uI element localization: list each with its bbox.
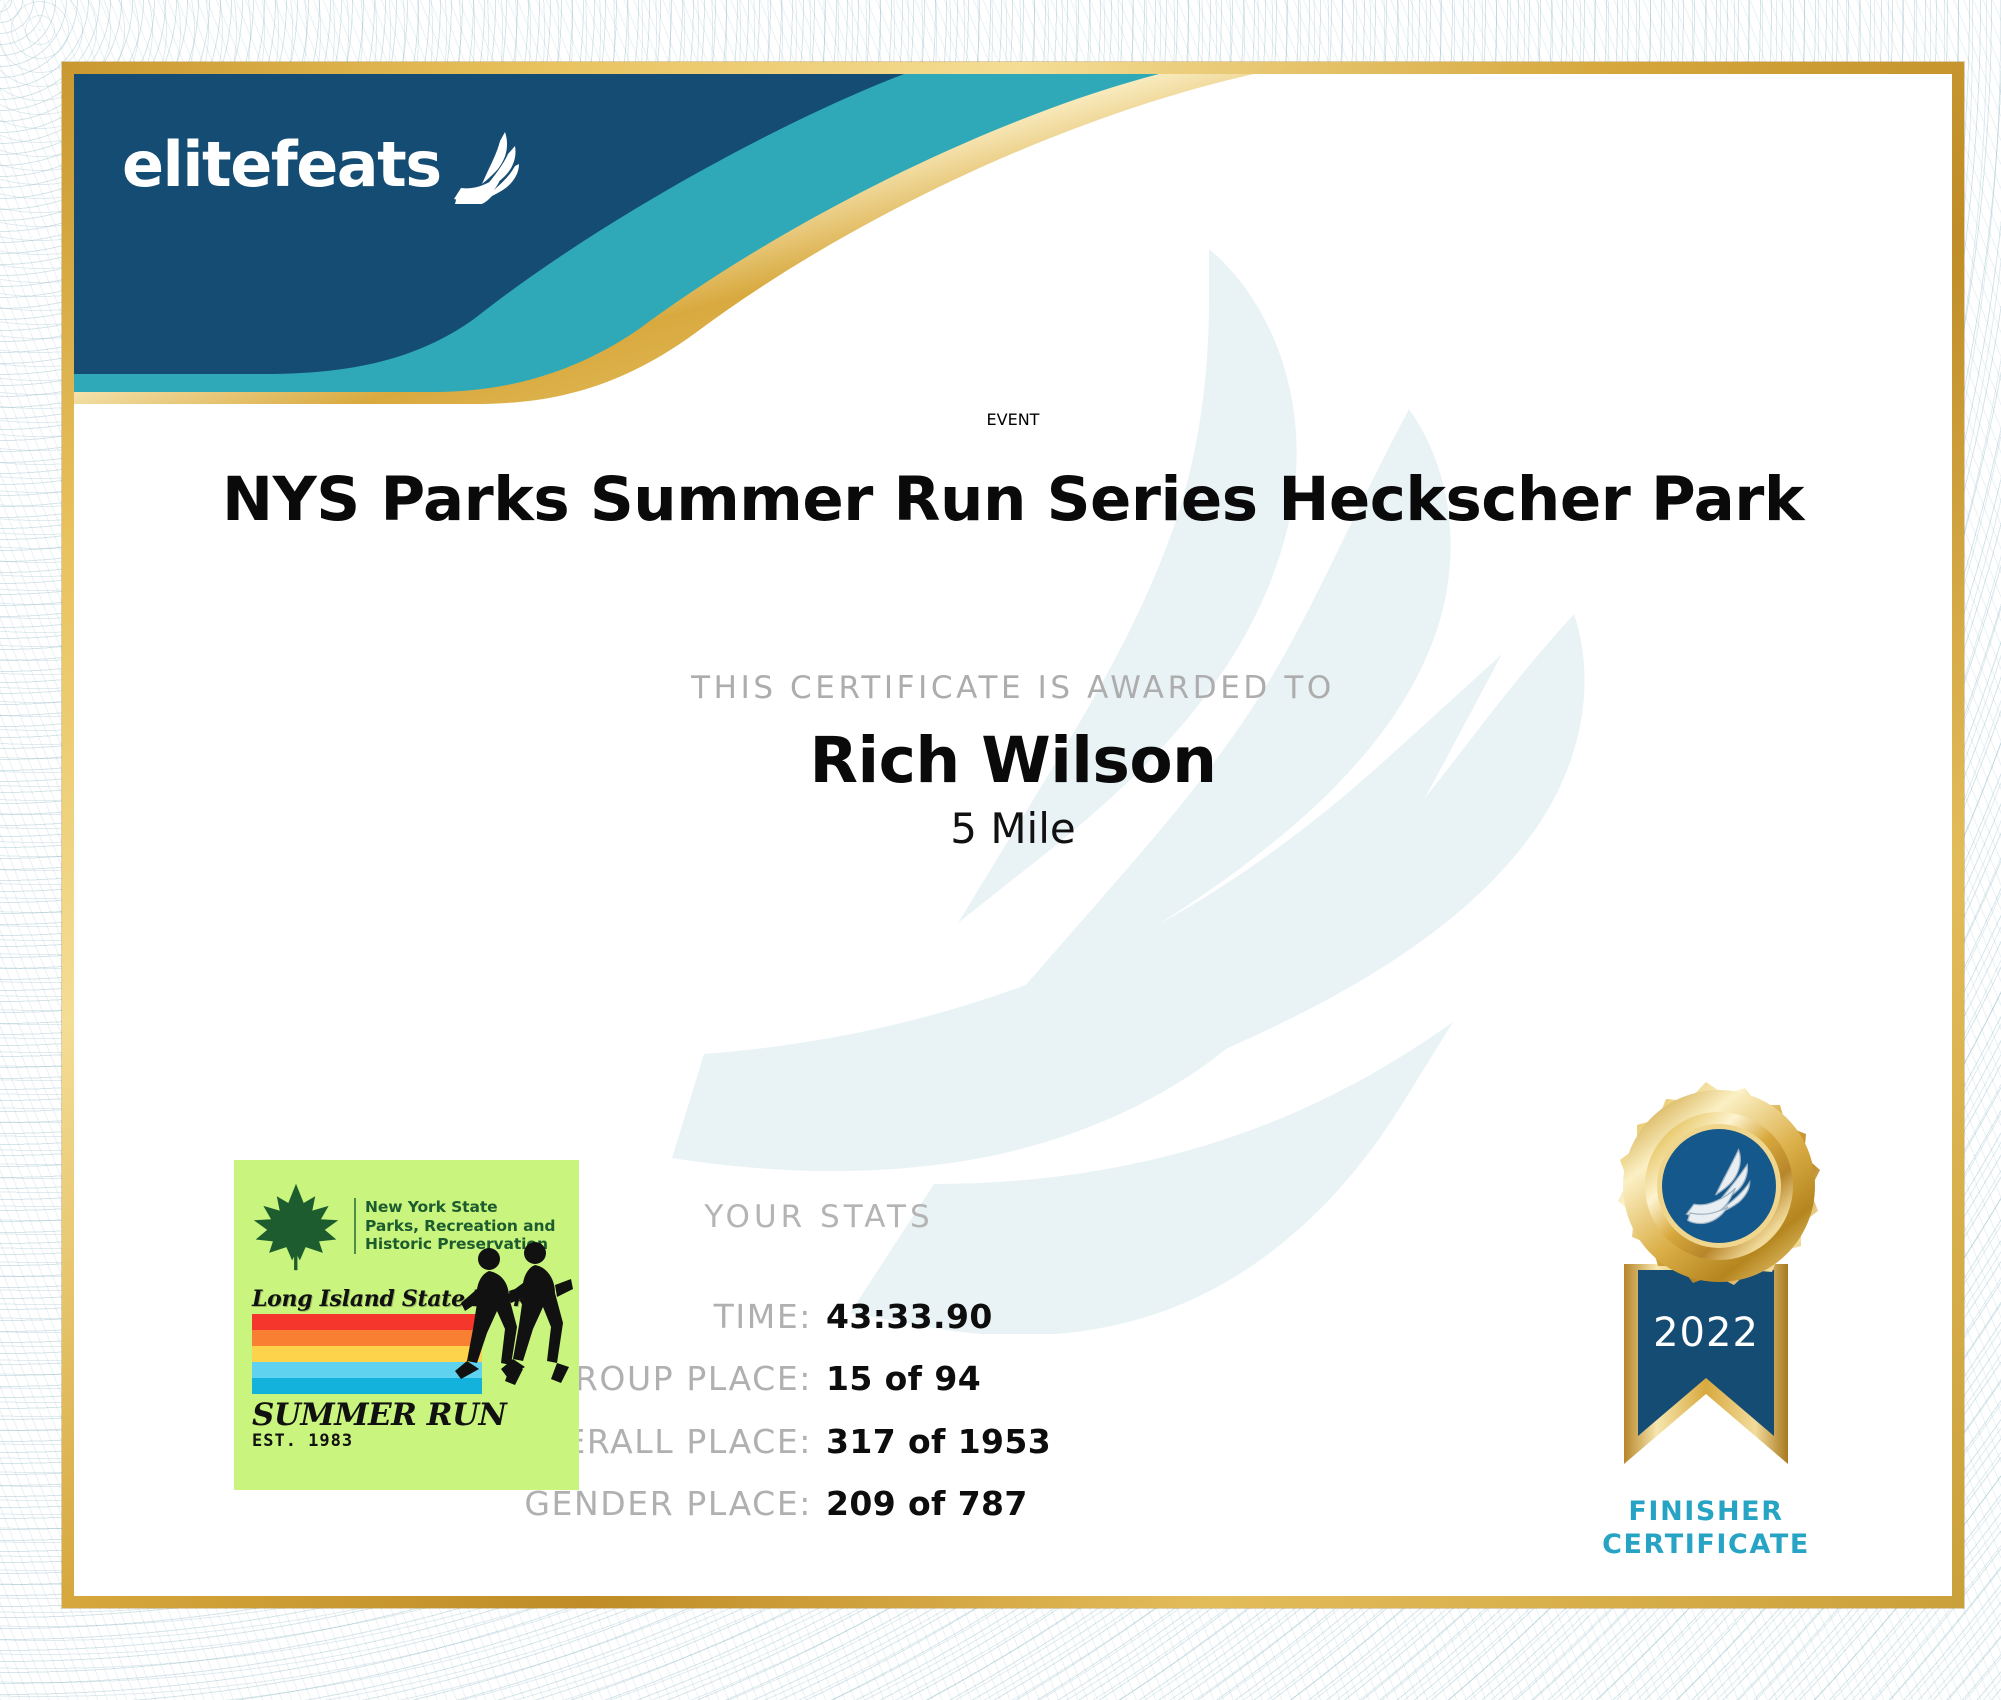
running-figures-icon: [453, 1233, 573, 1423]
event-title: NYS Parks Summer Run Series Heckscher Pa…: [74, 464, 1952, 535]
winged-foot-icon: [447, 126, 525, 204]
medal-caption-line-1: FINISHER: [1556, 1496, 1856, 1529]
brand-name: elitefeats: [122, 134, 441, 196]
stat-value-age-group-place: 15 of 94: [826, 1361, 1386, 1397]
finisher-medal: 2022: [1556, 1074, 1856, 1554]
maple-leaf-icon: [248, 1178, 344, 1274]
sponsor-logo: New York State Parks, Recreation and His…: [234, 1160, 579, 1490]
stat-value-gender-place: 209 of 787: [826, 1486, 1386, 1522]
stat-row: GENDER PLACE: 209 of 787: [74, 1486, 1564, 1522]
rainbow-stripes: [252, 1314, 482, 1394]
agency-line-1: New York State: [365, 1198, 555, 1217]
certificate-frame: elitefeats EVENT NYS Parks Summer Run Se…: [62, 62, 1964, 1608]
certificate-page: elitefeats EVENT NYS Parks Summer Run Se…: [0, 0, 2001, 1700]
event-label: EVENT: [74, 410, 1952, 429]
header-banner-art: [74, 74, 1254, 404]
summer-run-lockup: Long Island State Parks SUMMER RUN EST. …: [234, 1280, 579, 1451]
race-distance: 5 Mile: [74, 804, 1952, 853]
recipient-name: Rich Wilson: [74, 724, 1952, 797]
medal-caption: FINISHER CERTIFICATE: [1556, 1496, 1856, 1562]
series-established: EST. 1983: [252, 1431, 561, 1451]
stat-key-gender-place: GENDER PLACE:: [252, 1486, 826, 1522]
medal-caption-line-2: CERTIFICATE: [1556, 1529, 1856, 1562]
awarded-to-label: THIS CERTIFICATE IS AWARDED TO: [74, 670, 1952, 706]
brand-logo: elitefeats: [122, 126, 525, 204]
stat-value-time: 43:33.90: [826, 1299, 1386, 1335]
medal-year-text: 2022: [1653, 1310, 1759, 1356]
medal-graphic: 2022: [1556, 1074, 1856, 1544]
stat-value-overall-place: 317 of 1953: [826, 1424, 1386, 1460]
